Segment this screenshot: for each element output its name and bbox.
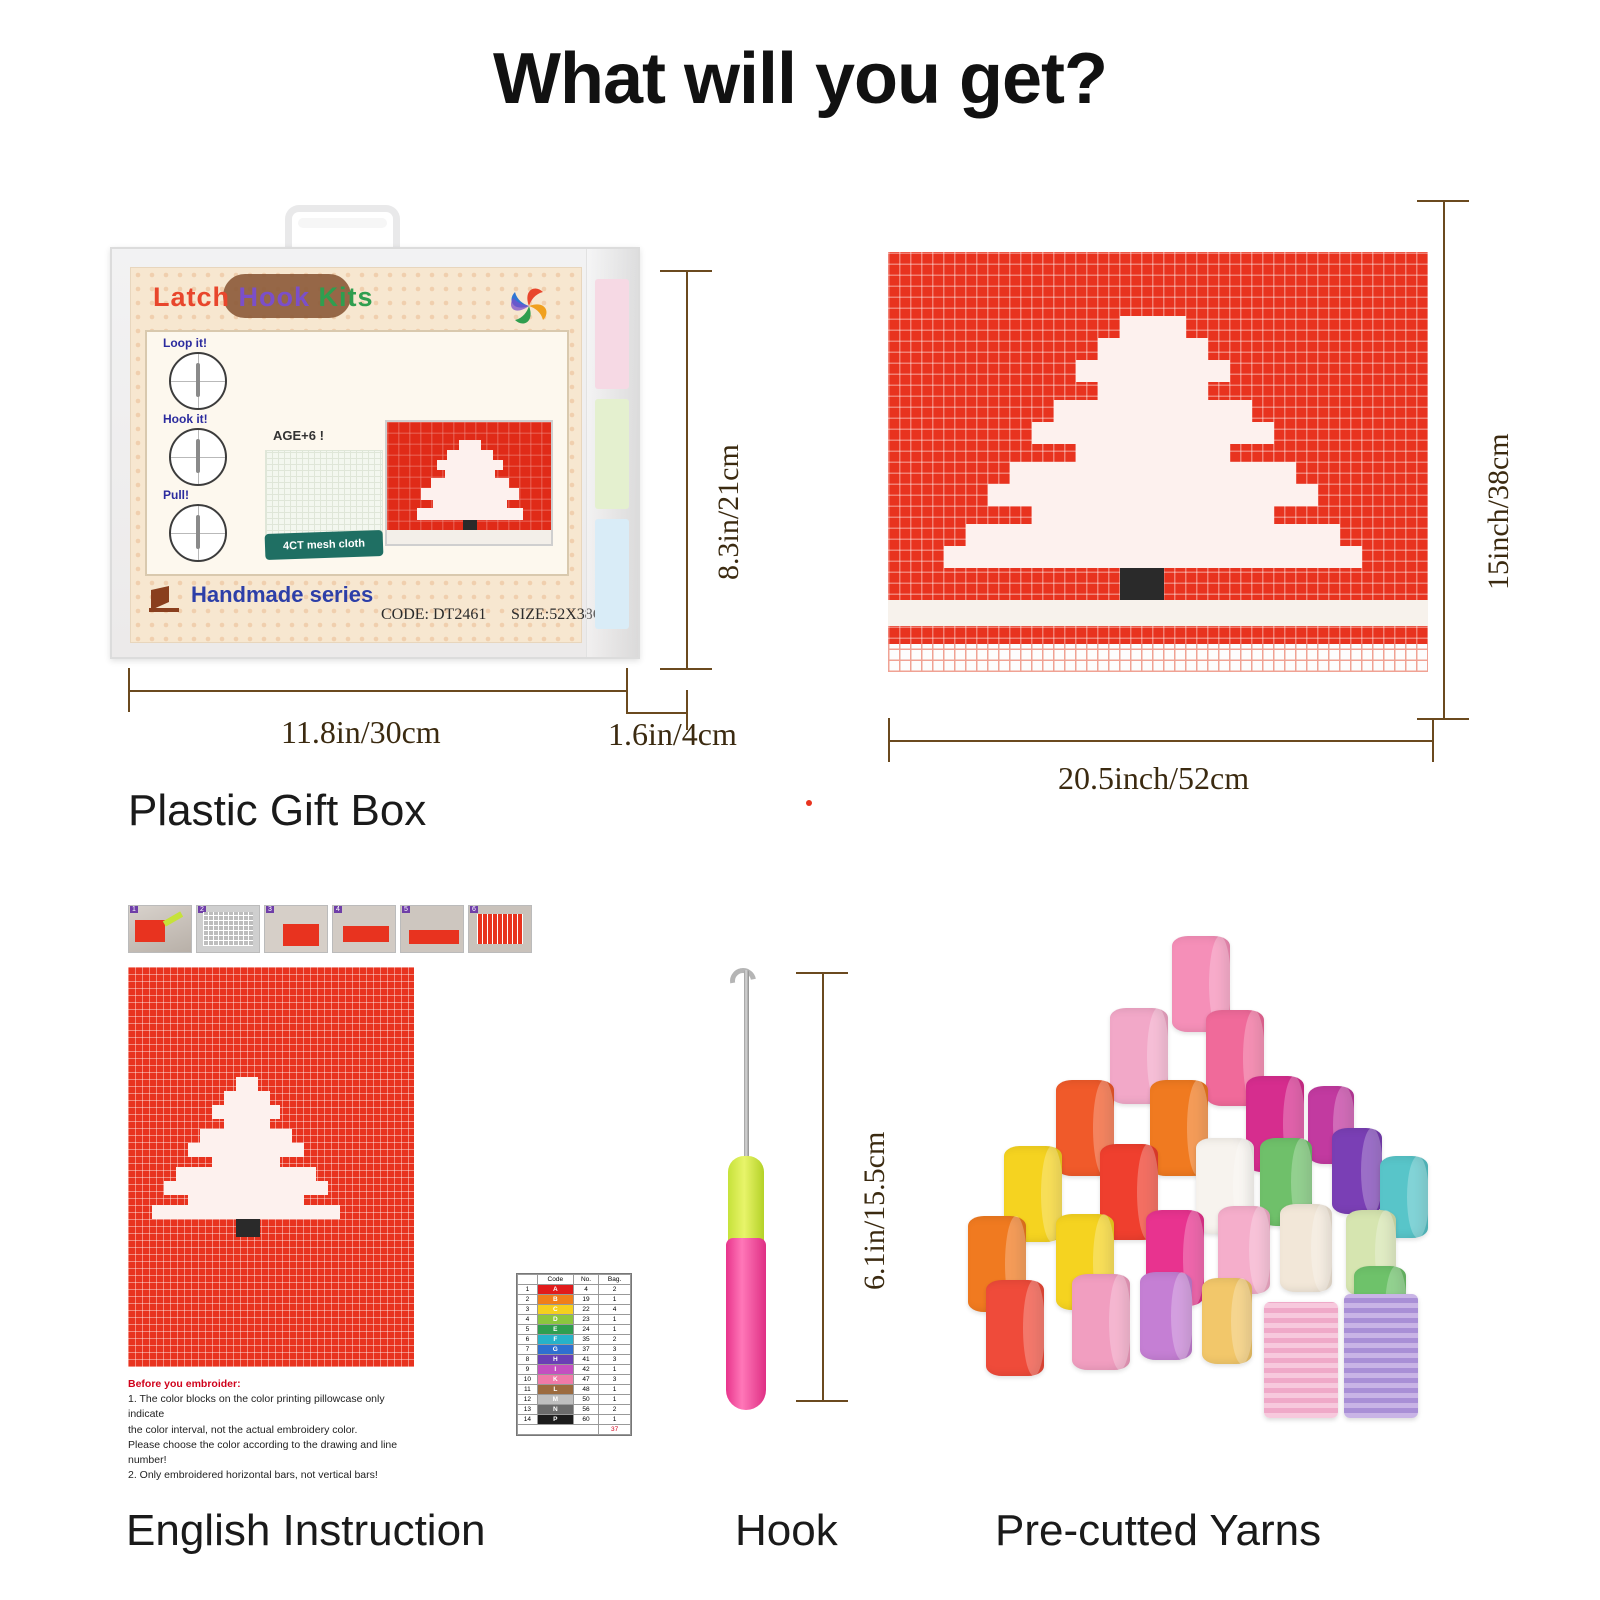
instruction-thumbnail: 1 [128,905,192,953]
legend-bag-count: 3 [599,1345,631,1355]
legend-code-swatch: P [537,1415,573,1425]
instruction-thumbnail: 3 [264,905,328,953]
page-root: What will you get? Latch Hook Kits [0,0,1600,1600]
legend-index: 1 [518,1285,538,1295]
mesh-cloth-swatch [265,450,383,538]
giftbox-width-tick-right [626,668,628,712]
legend-row: 12M501 [518,1395,631,1405]
legend-row: 13N562 [518,1405,631,1415]
legend-code-swatch: H [537,1355,573,1365]
yarn-bundle [1140,1272,1192,1360]
page-title: What will you get? [0,38,1600,120]
caption-hook: Hook [735,1506,838,1556]
pre-cut-yarns-image [960,930,1500,1450]
box-handle [285,205,400,253]
legend-row: 14P601 [518,1415,631,1425]
legend-number: 37 [573,1345,598,1355]
instruction-thumbnail: 5 [400,905,464,953]
brand-word-3: Kits [319,282,374,312]
legend-bag-count: 2 [599,1285,631,1295]
thumbnail-number: 6 [470,906,478,913]
step-hook-icon-2 [196,439,200,473]
yarn-bundle [1202,1278,1252,1364]
legend-index: 8 [518,1355,538,1365]
legend-index: 12 [518,1395,538,1405]
legend-number: 19 [573,1295,598,1305]
canvas-height-label: 15inch/38cm [1482,433,1516,590]
legend-row: 3C224 [518,1305,631,1315]
legend-code-swatch: N [537,1405,573,1415]
yarn-spool [1344,1294,1418,1418]
legend-index: 7 [518,1345,538,1355]
giftbox-height-label: 8.3in/21cm [712,444,746,580]
english-instruction-image: 1 2 3 4 5 6 [120,905,640,1465]
instruction-card: Loop it! Hook it! Pull! AGE+6 ! 4CT mesh… [145,330,569,576]
mesh-cloth-tag: 4CT mesh cloth [265,530,384,560]
legend-row: 9I421 [518,1365,631,1375]
product-preview-image [385,420,553,546]
hook-needle [744,970,749,1166]
canvas-width-label: 20.5inch/52cm [1058,760,1249,797]
yarn-bundle [986,1280,1044,1376]
legend-total-row: 37 [518,1425,631,1435]
yarn-spool [1264,1302,1338,1418]
canvas-width-tick-right [1432,718,1434,762]
stray-red-dot [806,800,812,806]
caption-pre-cutted-yarns: Pre-cutted Yarns [995,1506,1321,1556]
legend-index: 3 [518,1305,538,1315]
step-label-1: Loop it! [163,336,207,350]
giftbox-depth-label: 1.6in/4cm [608,716,737,753]
step-hook-icon-1 [196,363,200,397]
legend-row: 5E241 [518,1325,631,1335]
legend-bag-count: 3 [599,1355,631,1365]
canvas-width-dimension-line [888,740,1434,742]
instruction-note-line: the color interval, not the actual embro… [128,1423,418,1438]
legend-index: 11 [518,1385,538,1395]
box-outer: Latch Hook Kits Loop it [110,247,640,659]
canvas-height-tick-top [1417,200,1469,202]
legend-code-swatch: I [537,1365,573,1375]
legend-code-swatch: L [537,1385,573,1395]
hook-tip-icon [725,963,761,999]
hook-handle-lower [726,1238,766,1410]
yarn-bundle [1332,1128,1382,1214]
legend-header-row: Code No. Bag. [518,1275,631,1285]
legend-number: 47 [573,1375,598,1385]
legend-row: 1A42 [518,1285,631,1295]
giftbox-width-tick-left [128,668,130,712]
legend-bag-count: 1 [599,1295,631,1305]
box-front-face: Latch Hook Kits Loop it [130,267,582,643]
legend-bag-count: 2 [599,1335,631,1345]
legend-header-bag: Bag. [599,1275,631,1285]
legend-index: 5 [518,1325,538,1335]
legend-number: 60 [573,1415,598,1425]
thumbnail-number: 5 [402,906,410,913]
legend-total-spacer [518,1425,599,1435]
giftbox-height-tick-top [660,270,712,272]
hook-length-label: 6.1in/15.5cm [858,1132,892,1290]
giftbox-height-dimension-line [686,270,688,670]
instruction-note-line: 1. The color blocks on the color printin… [128,1392,418,1422]
legend-bag-count: 1 [599,1365,631,1375]
legend-number: 23 [573,1315,598,1325]
instruction-note-header: Before you embroider: [128,1377,418,1392]
giftbox-width-label: 11.8in/30cm [281,714,441,751]
thumbnail-number: 3 [266,906,274,913]
legend-index: 14 [518,1415,538,1425]
hook-handle-upper [728,1156,764,1248]
yarn-bundle [1280,1204,1332,1292]
legend-number: 24 [573,1325,598,1335]
brand-word-1: Latch [153,282,230,312]
thumbnail-number: 1 [130,906,138,913]
step-label-3: Pull! [163,488,189,502]
instruction-note-line: Please choose the color according to the… [128,1438,418,1468]
legend-number: 22 [573,1305,598,1315]
yarn-bundle [1072,1274,1130,1370]
legend-bag-count: 1 [599,1395,631,1405]
legend-header-no: No. [573,1275,598,1285]
legend-code-swatch: K [537,1375,573,1385]
legend-number: 48 [573,1385,598,1395]
legend-code-swatch: G [537,1345,573,1355]
legend-index: 9 [518,1365,538,1375]
legend-number: 35 [573,1335,598,1345]
brand-word-2: Hook [239,282,311,312]
legend-number: 56 [573,1405,598,1415]
legend-number: 50 [573,1395,598,1405]
instruction-note: Before you embroider: 1. The color block… [128,1377,418,1484]
legend-bag-count: 4 [599,1305,631,1315]
step-hook-icon-3 [196,515,200,549]
legend-code-swatch: C [537,1305,573,1315]
legend-code-swatch: F [537,1335,573,1345]
legend-bag-count: 2 [599,1405,631,1415]
legend-index: 2 [518,1295,538,1305]
legend-row: 8H413 [518,1355,631,1365]
instruction-thumbnail-strip: 1 2 3 4 5 6 [128,905,532,953]
legend-table: Code No. Bag. 1A422B1913C2244D2315E2416F… [517,1274,631,1435]
legend-header-code: Code [537,1275,573,1285]
gift-box-image: Latch Hook Kits Loop it [110,205,640,665]
series-label: Handmade series [191,582,373,608]
legend-header-index [518,1275,538,1285]
hook-length-tick-top [796,972,848,974]
giftbox-height-tick-bottom [660,668,712,670]
legend-body: 1A422B1913C2244D2315E2416F3527G3738H4139… [518,1285,631,1435]
brand-title: Latch Hook Kits [153,282,374,313]
legend-bag-count: 1 [599,1415,631,1425]
caption-plastic-gift-box: Plastic Gift Box [128,786,426,836]
latch-hook-tool-image [700,970,820,1400]
caption-english-instruction: English Instruction [126,1506,486,1556]
handmade-flag-icon [149,584,183,614]
legend-code-swatch: E [537,1325,573,1335]
thumbnail-number: 4 [334,906,342,913]
giftbox-depth-dimension-line [626,712,688,714]
legend-index: 4 [518,1315,538,1325]
legend-row: 10K473 [518,1375,631,1385]
mesh-cloth-tag-label: 4CT mesh cloth [265,530,384,560]
canvas-height-dimension-line [1443,200,1445,720]
box-spine [586,249,638,657]
hook-length-dimension-line [822,972,824,1402]
product-code: CODE: DT2461 [381,606,486,624]
giftbox-width-dimension-line [128,690,628,692]
legend-total-value: 37 [599,1425,631,1435]
legend-number: 41 [573,1355,598,1365]
instruction-thumbnail: 6 [468,905,532,953]
canvas-width-tick-left [888,718,890,762]
legend-code-swatch: A [537,1285,573,1295]
legend-code-swatch: M [537,1395,573,1405]
instruction-thumbnail: 4 [332,905,396,953]
legend-row: 2B191 [518,1295,631,1305]
legend-row: 6F352 [518,1335,631,1345]
legend-row: 7G373 [518,1345,631,1355]
legend-index: 13 [518,1405,538,1415]
legend-number: 42 [573,1365,598,1375]
legend-code-swatch: B [537,1295,573,1305]
step-label-2: Hook it! [163,412,208,426]
legend-number: 4 [573,1285,598,1295]
instruction-thumbnail: 2 [196,905,260,953]
canvas-height-tick-bottom [1417,718,1469,720]
legend-code-swatch: D [537,1315,573,1325]
legend-bag-count: 3 [599,1375,631,1385]
legend-row: 4D231 [518,1315,631,1325]
printed-canvas-image [888,252,1428,672]
legend-bag-count: 1 [599,1325,631,1335]
legend-index: 6 [518,1335,538,1345]
hook-length-tick-bottom [796,1400,848,1402]
age-note: AGE+6 ! [273,428,324,443]
legend-row: 11L481 [518,1385,631,1395]
instruction-note-line: 2. Only embroidered horizontal bars, not… [128,1468,418,1483]
legend-bag-count: 1 [599,1315,631,1325]
instruction-chart-canvas [128,967,414,1367]
canvas-unprinted-margin [888,644,1428,672]
pinwheel-logo-icon [501,278,557,334]
legend-bag-count: 1 [599,1385,631,1395]
legend-index: 10 [518,1375,538,1385]
color-legend-table: Code No. Bag. 1A422B1913C2244D2315E2416F… [516,1273,632,1436]
